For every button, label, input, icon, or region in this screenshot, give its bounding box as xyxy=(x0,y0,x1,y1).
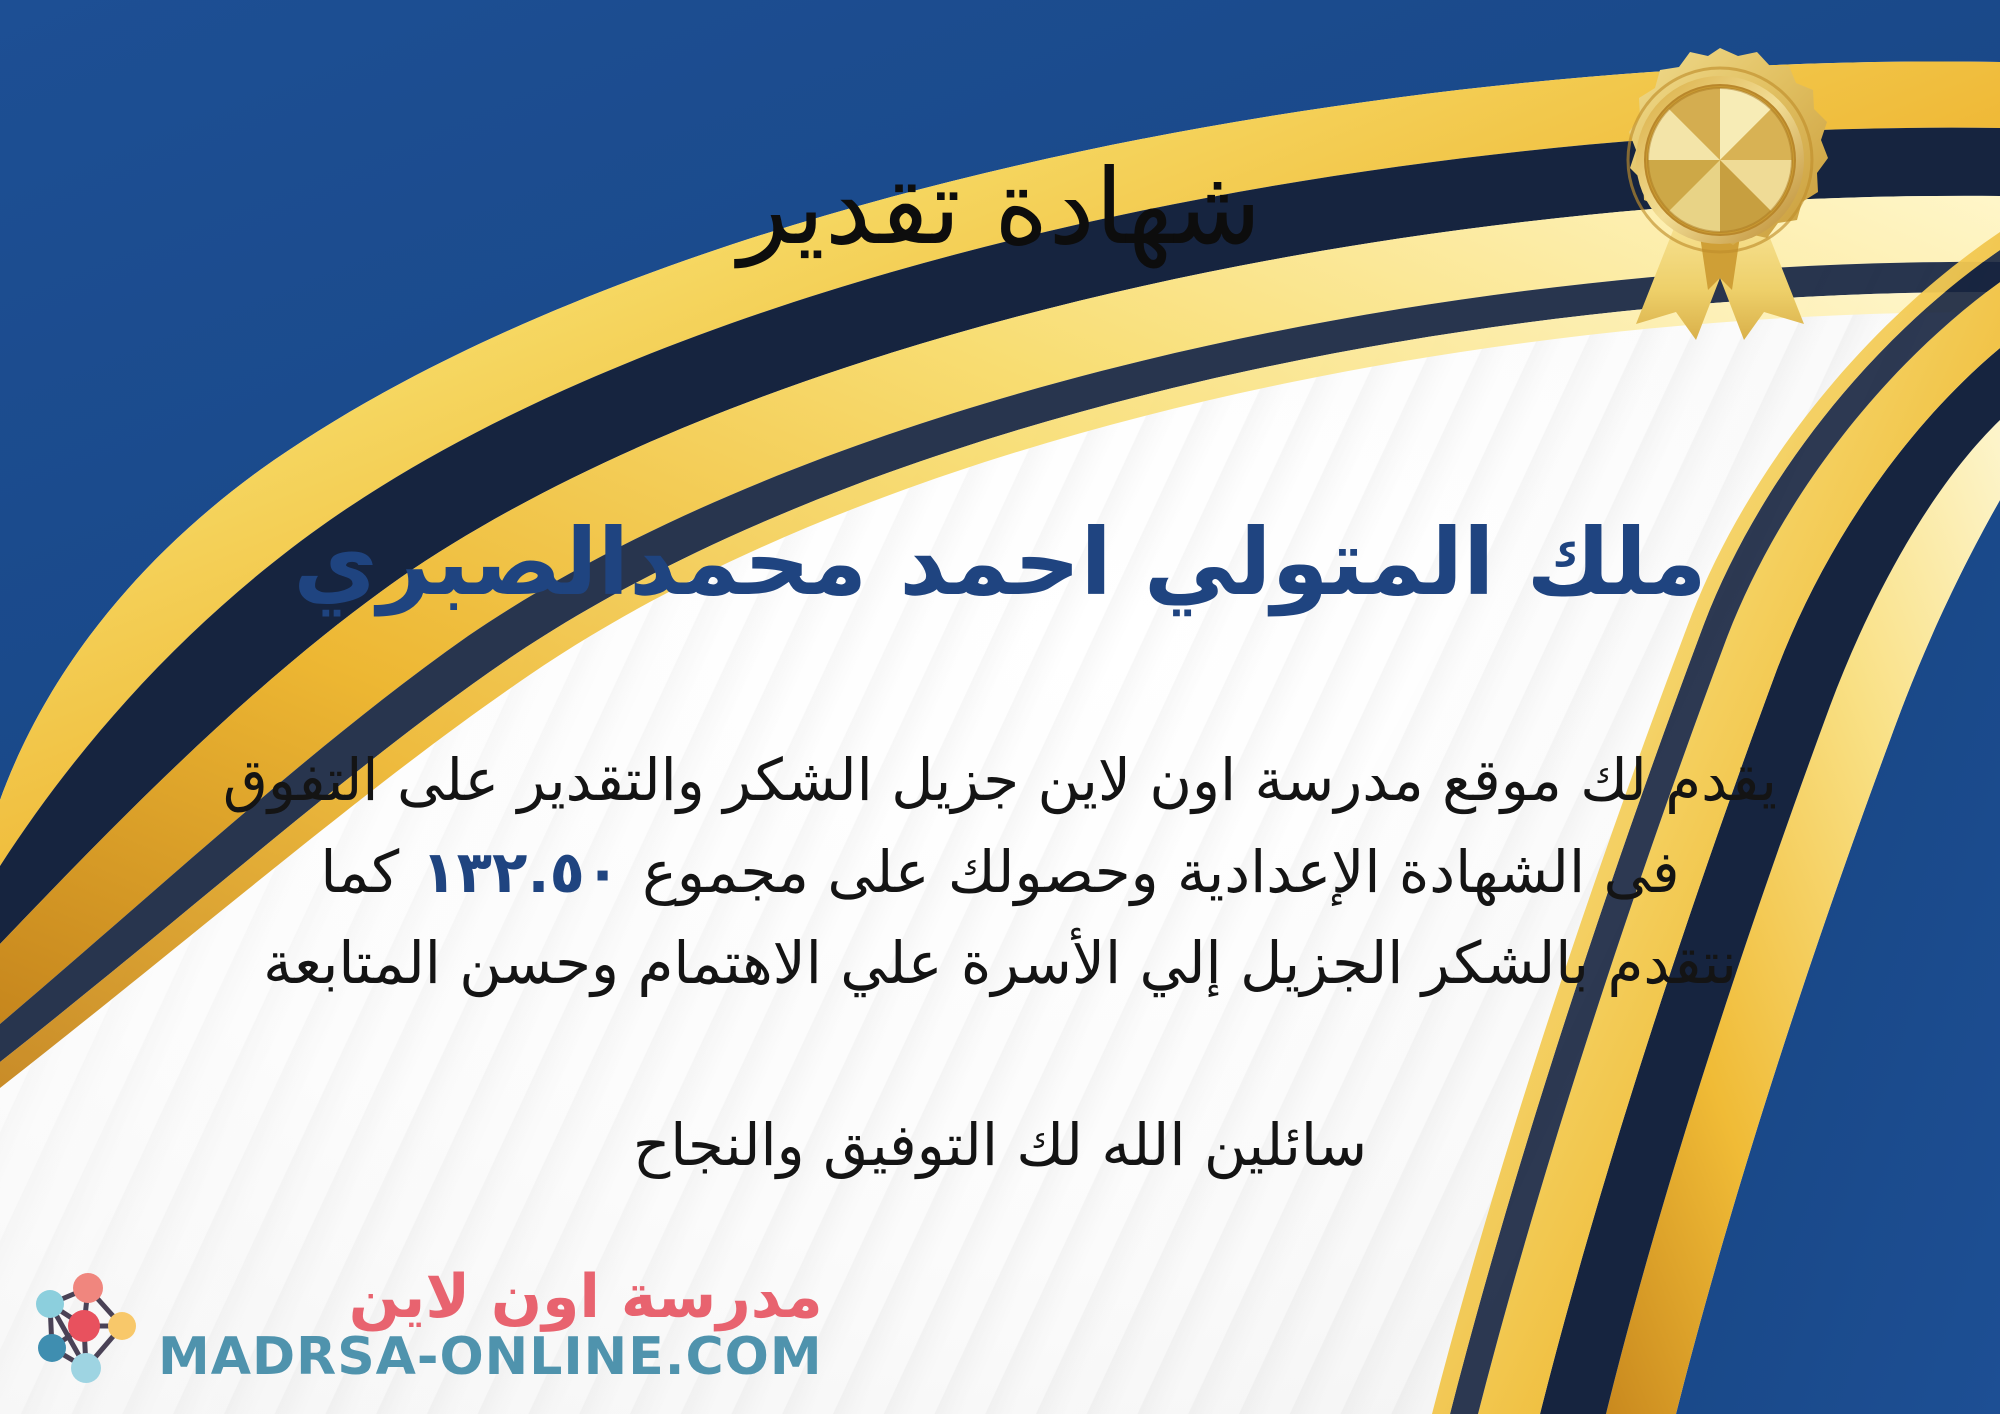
certificate-title: شهادة تقدير xyxy=(0,155,2000,259)
closing-wish-line: سائلين الله لك التوفيق والنجاح xyxy=(0,1105,2000,1186)
body-line-1: يقدم لك موقع مدرسة اون لاين جزيل الشكر و… xyxy=(60,735,1940,827)
recipient-name: ملك المتولي احمد محمدالصبري xyxy=(0,510,2000,616)
certificate-content: شهادة تقدير ملك المتولي احمد محمدالصبري … xyxy=(0,0,2000,1414)
body-line-3: نتقدم بالشكر الجزيل إلي الأسرة علي الاهت… xyxy=(60,918,1940,1010)
grade-total-value: ١٣٢.٥٠ xyxy=(399,838,642,906)
brand-arabic-name: مدرسة اون لاين xyxy=(349,1267,823,1327)
certificate-body: يقدم لك موقع مدرسة اون لاين جزيل الشكر و… xyxy=(60,735,1940,1010)
brand-logo[interactable]: مدرسة اون لاين MADRSA-ONLINE.COM xyxy=(18,1260,823,1390)
certificate: شهادة تقدير ملك المتولي احمد محمدالصبري … xyxy=(0,0,2000,1414)
body-line-2-prefix: فى الشهادة الإعدادية وحصولك على مجموع xyxy=(642,838,1679,906)
brand-website-url[interactable]: MADRSA-ONLINE.COM xyxy=(158,1331,823,1383)
body-line-2: فى الشهادة الإعدادية وحصولك على مجموع١٣٢… xyxy=(60,827,1940,919)
body-line-2-suffix: كما xyxy=(320,838,399,906)
brand-text: مدرسة اون لاين MADRSA-ONLINE.COM xyxy=(158,1267,823,1383)
network-nodes-icon xyxy=(18,1260,148,1390)
